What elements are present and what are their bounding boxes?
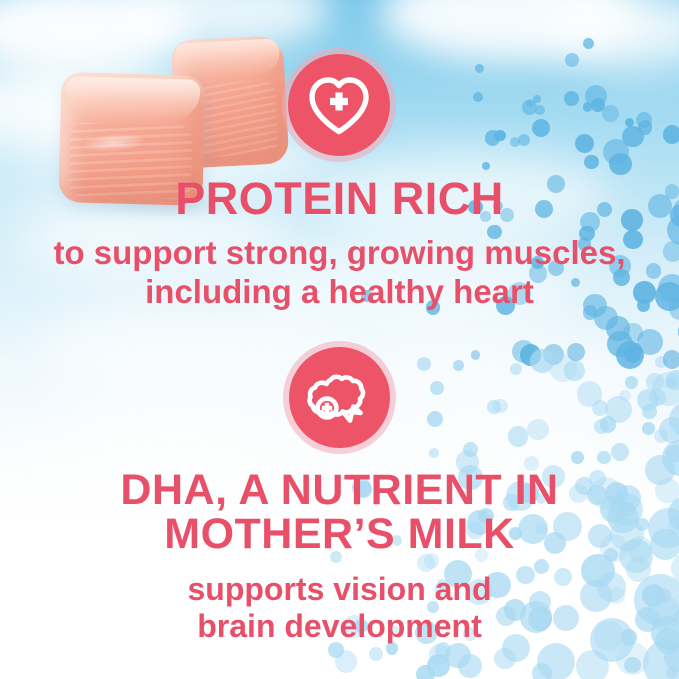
dha-text-block: DHA, A NUTRIENT INMOTHER’S MILK supports…	[0, 468, 679, 645]
protein-text-block: PROTEIN RICH to support strong, growing …	[0, 176, 679, 311]
infographic-canvas: PROTEIN RICH to support strong, growing …	[0, 0, 679, 679]
dha-subtext: supports vision andbrain development	[0, 571, 679, 645]
dha-subtext-0: supports vision and	[0, 571, 679, 608]
protein-subtext-1: including a healthy heart	[0, 273, 679, 311]
protein-subtext: to support strong, growing muscles,inclu…	[0, 234, 679, 311]
heart-plus-icon	[288, 54, 390, 156]
protein-headline: PROTEIN RICH	[0, 176, 679, 222]
dha-headline-1: MOTHER’S MILK	[0, 512, 679, 556]
dha-headline: DHA, A NUTRIENT INMOTHER’S MILK	[0, 468, 679, 557]
brain-plus-icon	[289, 347, 390, 448]
protein-headline-0: PROTEIN RICH	[0, 176, 679, 222]
protein-subtext-0: to support strong, growing muscles,	[0, 234, 679, 272]
chicken-cube-highlight	[81, 131, 146, 154]
dha-headline-0: DHA, A NUTRIENT IN	[0, 468, 679, 512]
dha-subtext-1: brain development	[0, 608, 679, 645]
